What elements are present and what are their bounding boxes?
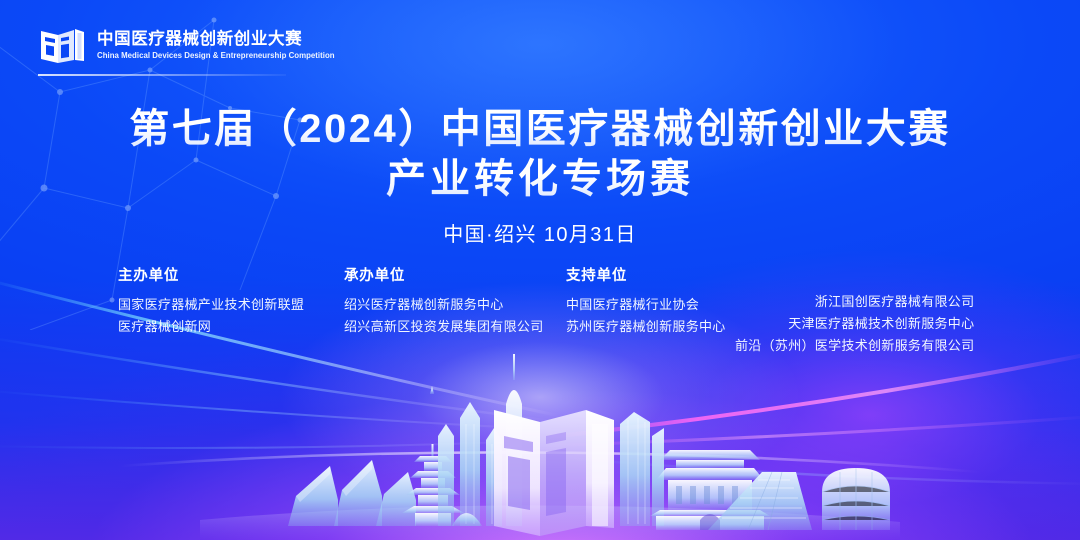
- city-skyline-illustration: [0, 340, 1080, 540]
- organizer-column-host: 主办单位 国家医疗器械产业技术创新联盟 医疗器械创新网: [118, 264, 304, 338]
- event-location-date: 中国·绍兴 10月31日: [0, 218, 1080, 247]
- cmdc-open-book-logo-icon: [38, 22, 86, 68]
- organizer-item: 绍兴高新区投资发展集团有限公司: [344, 316, 544, 338]
- page-title-line2: 产业转化专场赛: [0, 154, 1080, 204]
- organizer-heading: 主办单位: [118, 264, 304, 285]
- organizer-heading: 支持单位: [566, 264, 726, 285]
- organizer-column-supporter-extra: 浙江国创医疗器械有限公司 天津医疗器械技术创新服务中心 前沿（苏州）医学技术创新…: [735, 291, 974, 357]
- brand-name-en: China Medical Devices Design & Entrepren…: [97, 51, 335, 60]
- organizer-item: 中国医疗器械行业协会: [566, 294, 726, 316]
- brand-text: 中国医疗器械创新创业大赛 China Medical Devices Desig…: [97, 30, 342, 61]
- page-title-line1: 第七届（2024）中国医疗器械创新创业大赛: [0, 104, 1080, 154]
- organizers-block: 主办单位 国家医疗器械产业技术创新联盟 医疗器械创新网 承办单位 绍兴医疗器械创…: [0, 264, 1080, 364]
- organizer-item: 国家医疗器械产业技术创新联盟: [118, 294, 304, 316]
- organizer-item: 苏州医疗器械创新服务中心: [566, 316, 726, 338]
- center-logo-monument: [494, 410, 614, 536]
- organizer-item: 前沿（苏州）医学技术创新服务有限公司: [735, 335, 974, 357]
- organizer-item: 绍兴医疗器械创新服务中心: [344, 294, 544, 316]
- brand-name-cn: 中国医疗器械创新创业大赛: [97, 30, 342, 49]
- organizer-heading: 承办单位: [344, 264, 544, 285]
- poster-canvas: 中国医疗器械创新创业大赛 China Medical Devices Desig…: [0, 0, 1080, 540]
- organizer-column-supporter: 支持单位 中国医疗器械行业协会 苏州医疗器械创新服务中心: [566, 264, 726, 338]
- organizer-item: 浙江国创医疗器械有限公司: [735, 291, 974, 313]
- brand-underline: [38, 74, 286, 76]
- brand-header: 中国医疗器械创新创业大赛 China Medical Devices Desig…: [38, 22, 342, 68]
- hero-title-block: 第七届（2024）中国医疗器械创新创业大赛 产业转化专场赛 中国·绍兴 10月3…: [0, 104, 1080, 247]
- organizer-item: 天津医疗器械技术创新服务中心: [735, 313, 974, 335]
- organizer-column-coorganizer: 承办单位 绍兴医疗器械创新服务中心 绍兴高新区投资发展集团有限公司: [344, 264, 544, 338]
- pagoda: [430, 386, 434, 394]
- organizer-item: 医疗器械创新网: [118, 316, 304, 338]
